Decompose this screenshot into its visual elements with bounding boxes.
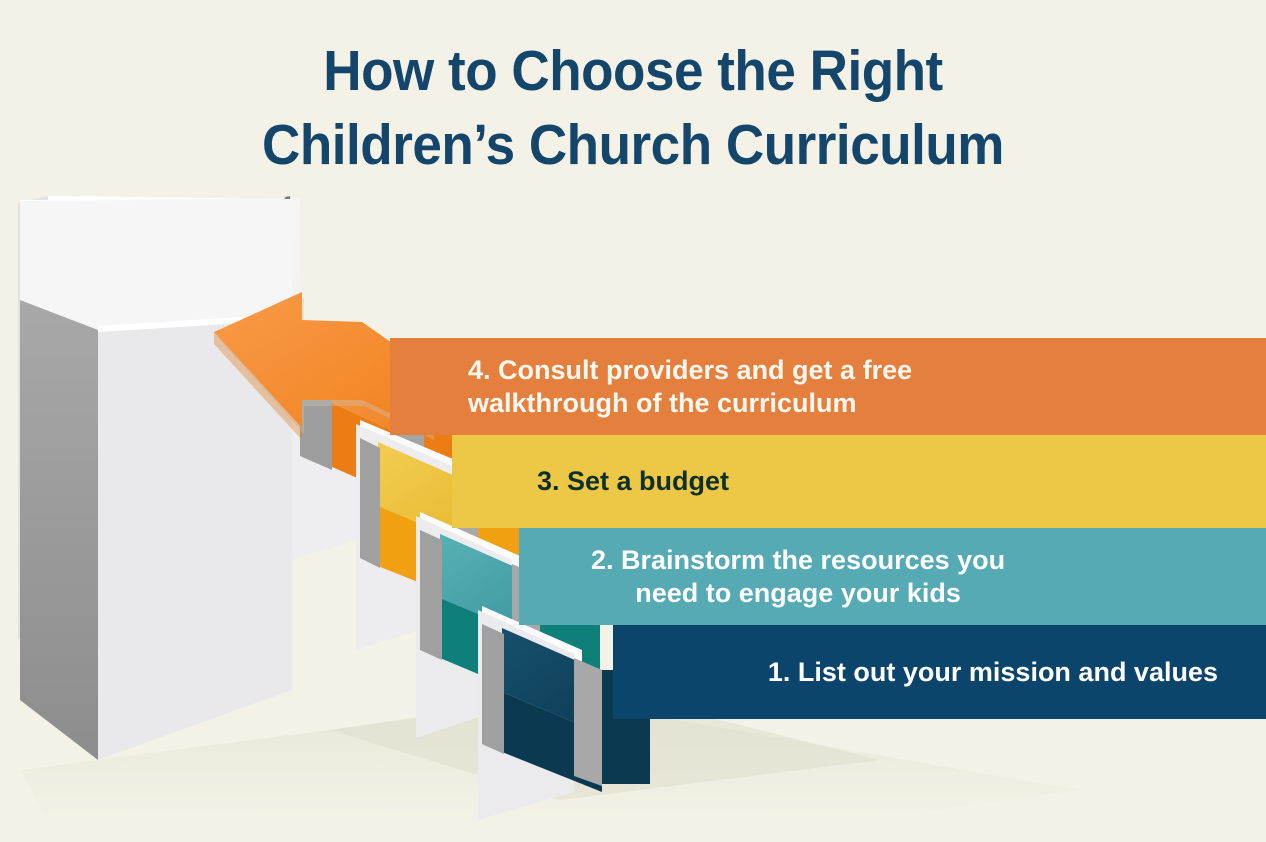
step-label-2: 2. Brainstorm the resources you need to …	[591, 544, 1005, 610]
step-label-1: 1. List out your mission and values	[768, 656, 1218, 689]
title-line-2: Children’s Church Curriculum	[44, 108, 1221, 182]
infographic-canvas: How to Choose the Right Children’s Churc…	[0, 0, 1266, 842]
step-label-4: 4. Consult providers and get a free walk…	[468, 354, 912, 420]
page-title: How to Choose the Right Children’s Churc…	[0, 34, 1266, 182]
step-bar-1[interactable]: 1. List out your mission and values	[613, 625, 1266, 719]
title-line-1: How to Choose the Right	[44, 34, 1221, 108]
step-label-3: 3. Set a budget	[537, 465, 729, 498]
step-bar-3[interactable]: 3. Set a budget	[452, 435, 1266, 528]
step-bar-4[interactable]: 4. Consult providers and get a free walk…	[390, 338, 1266, 435]
step-bar-2[interactable]: 2. Brainstorm the resources you need to …	[519, 528, 1266, 625]
